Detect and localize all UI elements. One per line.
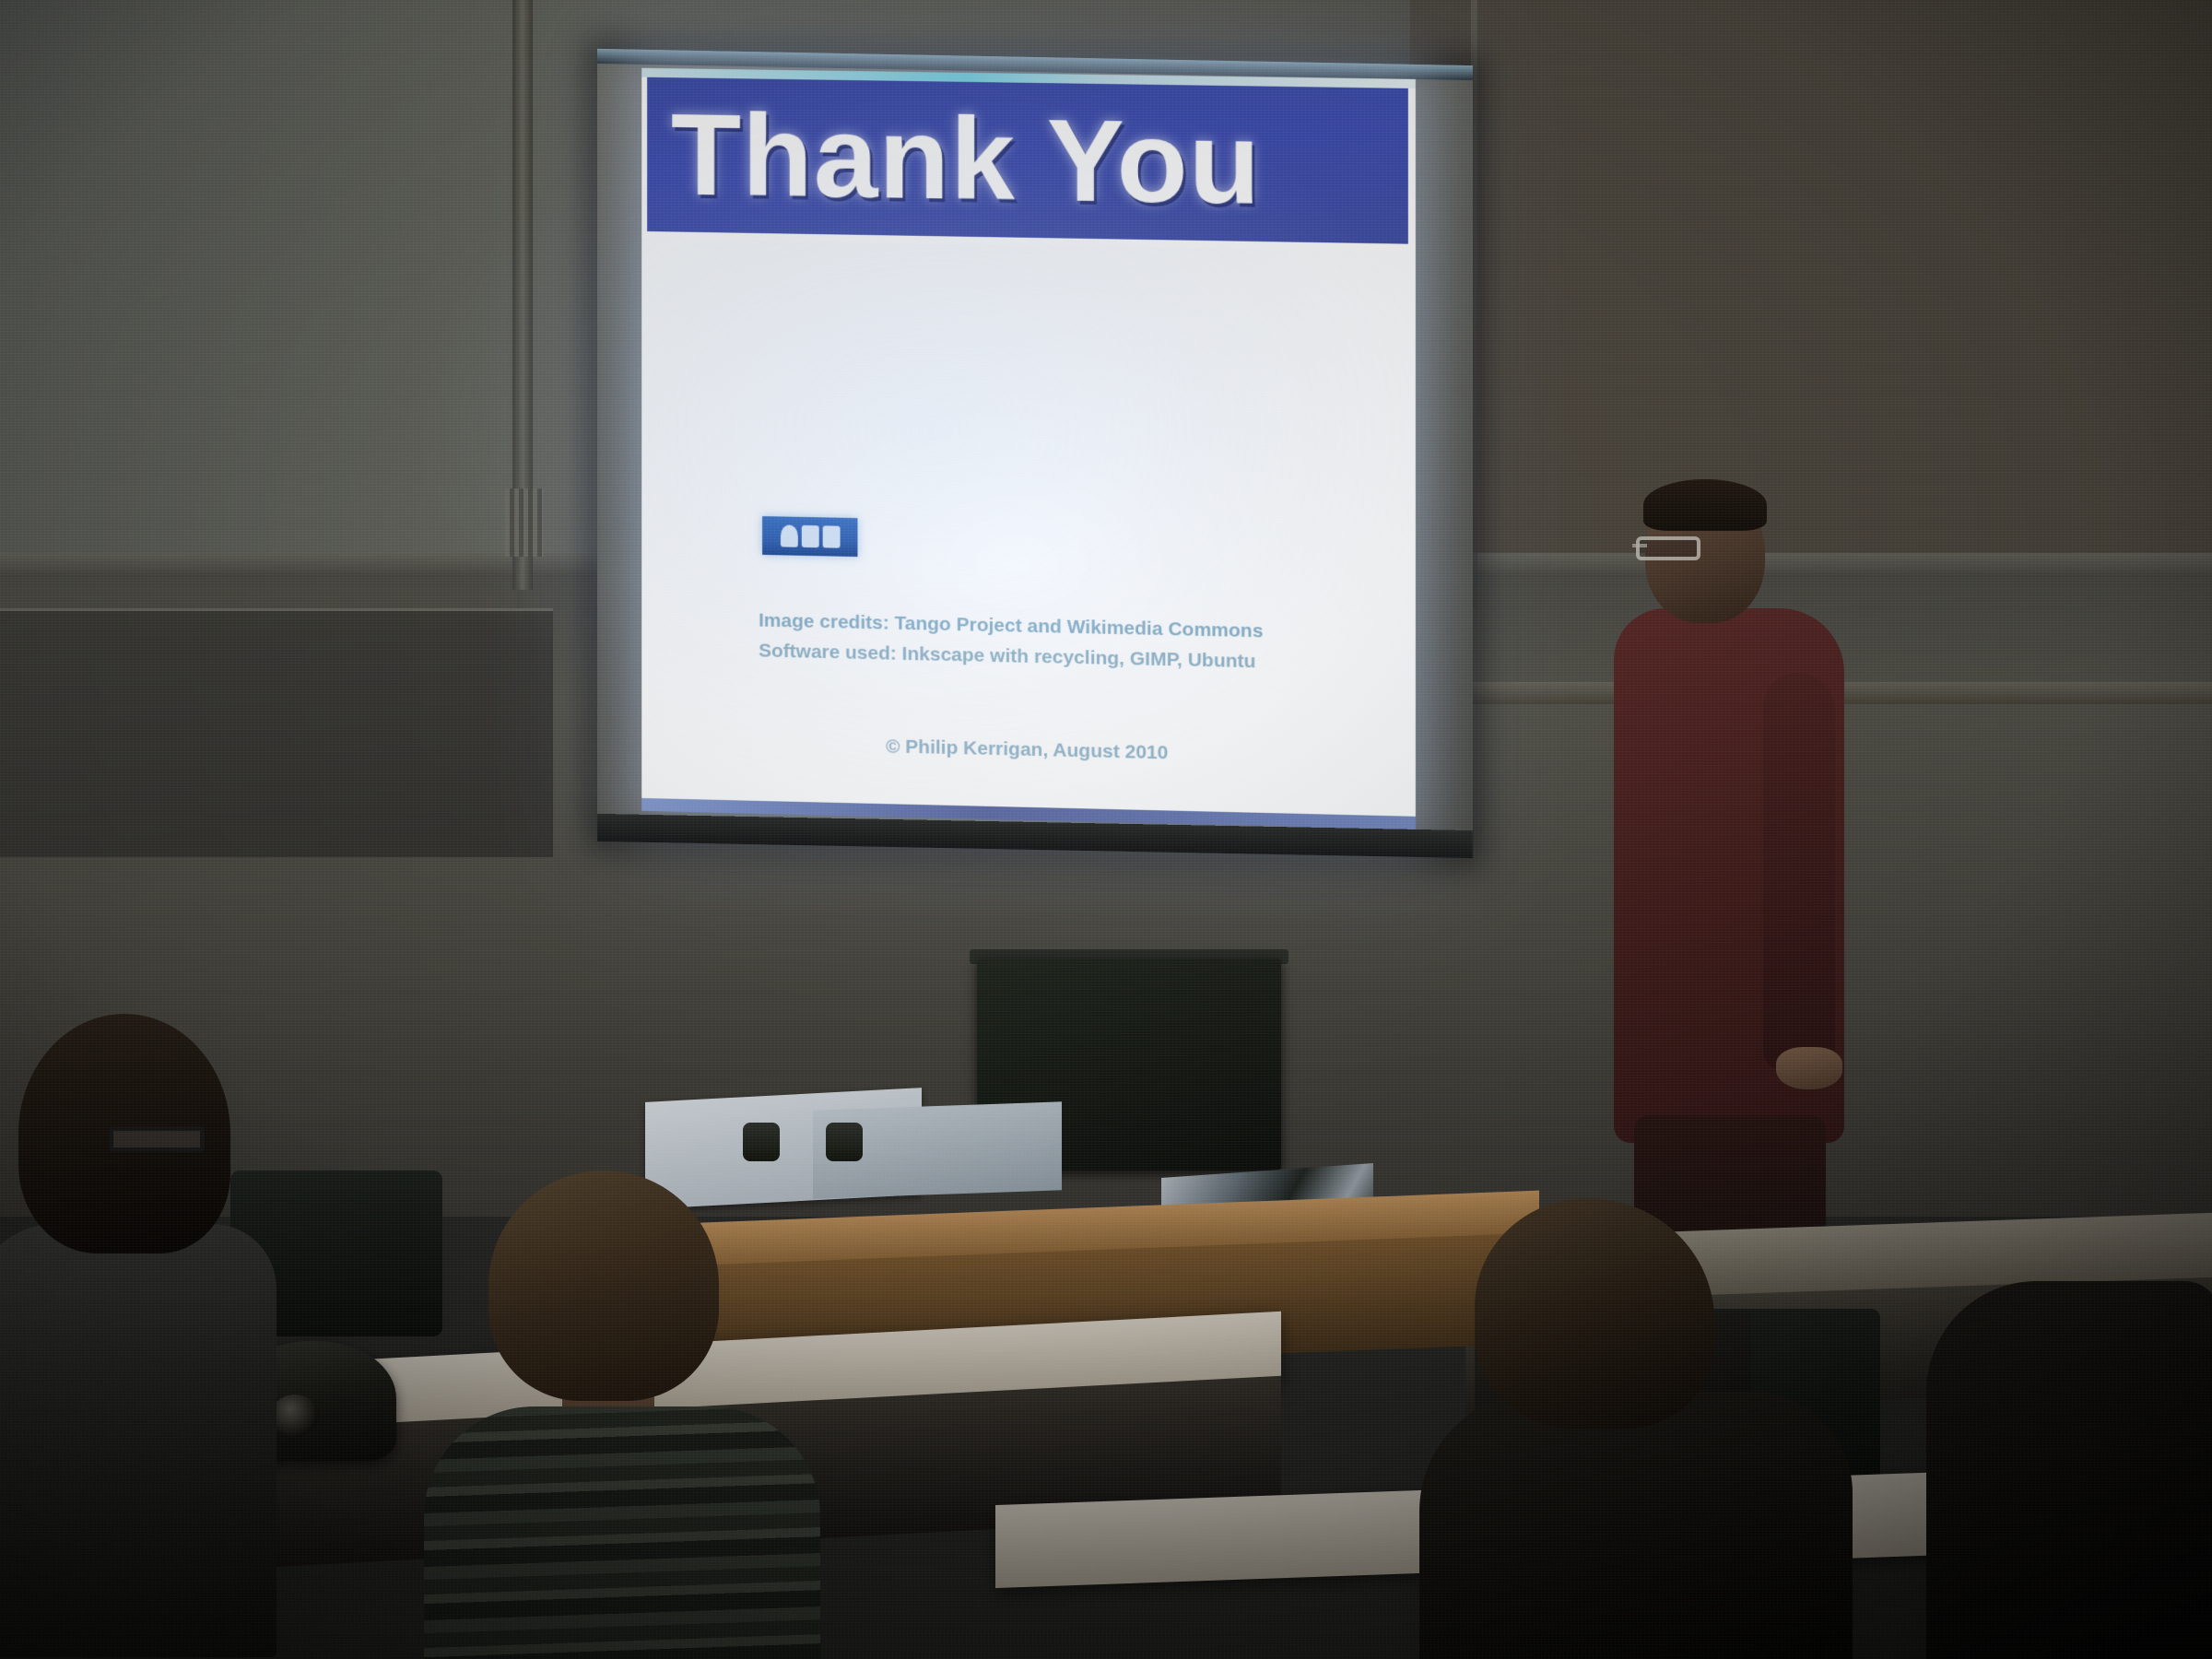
radiator-vent xyxy=(505,488,544,557)
glasses-arm xyxy=(1632,544,1647,547)
audience-member-far-right xyxy=(1926,1281,2212,1659)
lecture-hall-scene: Thank You Image credits: Tango Project a… xyxy=(0,0,2212,1659)
audience-center-torso xyxy=(424,1406,820,1659)
logo-glyph-3 xyxy=(822,525,840,547)
audience-member-center xyxy=(433,1171,820,1659)
presentation-logo-icon xyxy=(762,516,857,557)
glasses-icon xyxy=(109,1126,205,1152)
desk-device-a xyxy=(743,1123,780,1161)
slide-title-bar: Thank You xyxy=(647,77,1408,244)
glasses-icon xyxy=(1636,536,1700,560)
presenter xyxy=(1608,479,1903,1290)
projection-screen: Thank You Image credits: Tango Project a… xyxy=(597,49,1473,858)
desk-device-b xyxy=(826,1123,863,1161)
presenter-hand xyxy=(1776,1047,1842,1089)
audience-left-torso xyxy=(0,1224,276,1657)
projected-slide: Thank You Image credits: Tango Project a… xyxy=(641,68,1416,829)
audience-center-hair xyxy=(488,1171,719,1401)
audience-member-right xyxy=(1438,1198,1853,1659)
presenter-hair xyxy=(1643,479,1767,531)
slide-credits: Image credits: Tango Project and Wikimed… xyxy=(759,606,1339,679)
slide-title: Thank You xyxy=(647,97,1261,222)
audience-right-hair xyxy=(1475,1198,1714,1429)
slide-copyright: © Philip Kerrigan, August 2010 xyxy=(641,730,1416,770)
audience-right-torso xyxy=(1419,1392,1853,1659)
wall-panel-left xyxy=(0,608,553,857)
presenter-arm xyxy=(1763,673,1835,1069)
audience-member-left xyxy=(0,1014,323,1659)
logo-glyph-1 xyxy=(780,524,797,547)
slide-body: Image credits: Tango Project and Wikimed… xyxy=(641,239,1416,829)
audience-far-right-torso xyxy=(1926,1281,2212,1659)
logo-glyph-2 xyxy=(801,525,818,547)
